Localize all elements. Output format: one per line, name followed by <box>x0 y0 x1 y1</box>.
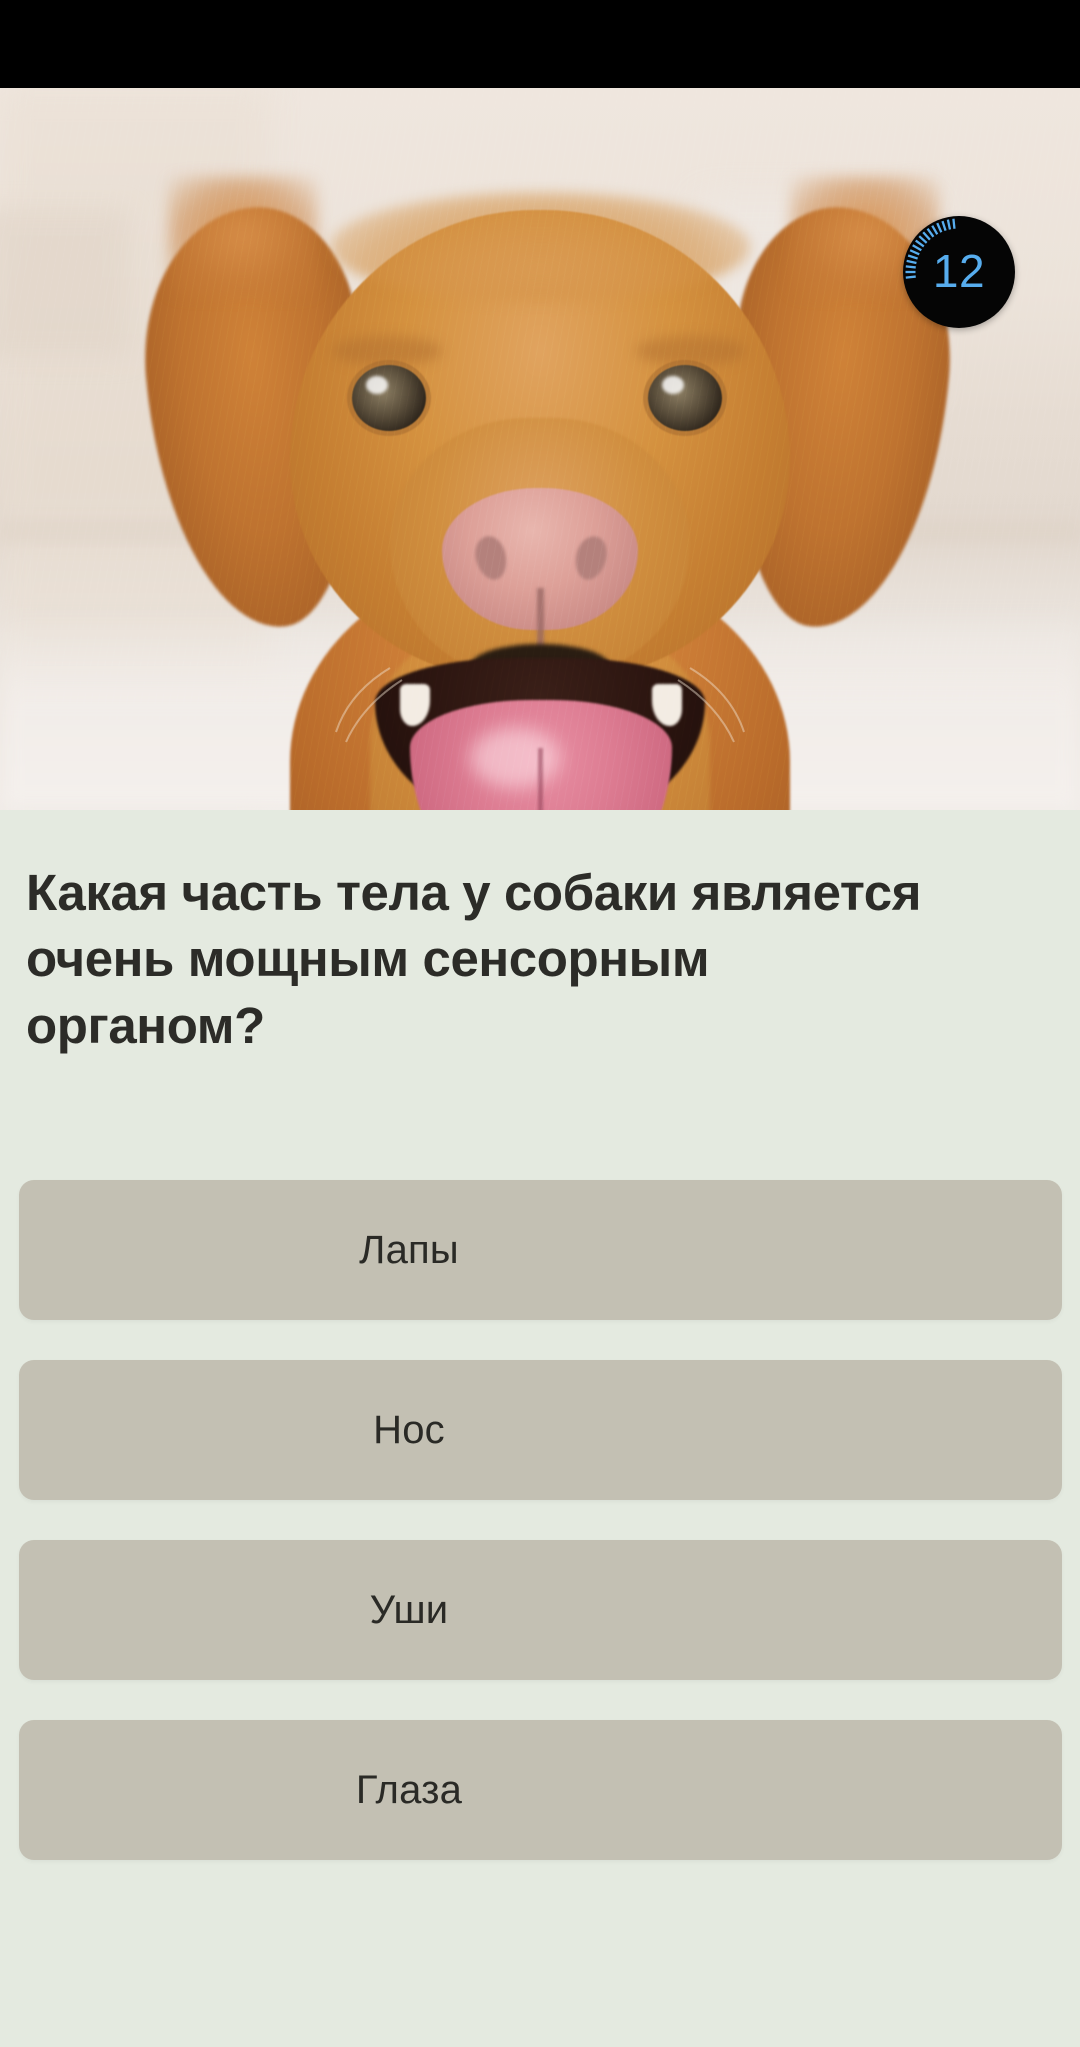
quiz-panel: Какая часть тела у собаки является очень… <box>0 810 1080 2047</box>
dog-tongue-crease <box>538 748 543 810</box>
answer-option-3[interactable]: Уши <box>19 1540 1062 1680</box>
answer-option-1[interactable]: Лапы <box>19 1180 1062 1320</box>
answer-option-3-label: Уши <box>19 1540 799 1680</box>
answer-option-2-label: Нос <box>19 1360 799 1500</box>
answer-option-1-label: Лапы <box>19 1180 799 1320</box>
dog-brow-left <box>332 336 442 366</box>
quiz-screen: 12 Какая часть тела у собаки является оч… <box>0 0 1080 2047</box>
dog-eye-glint-right <box>662 376 684 394</box>
answer-options-list: Лапы Нос Уши Глаза <box>19 1180 1062 1900</box>
countdown-timer: 12 <box>903 216 1015 328</box>
dog-head-fluff <box>330 192 750 302</box>
dog-ear-fluff-left <box>168 176 318 296</box>
dog-whiskers <box>330 628 750 748</box>
status-bar <box>0 0 1080 88</box>
dog-brow-right <box>636 336 746 366</box>
dog-eye-right <box>648 365 722 431</box>
dog-photo-subject <box>0 88 1080 810</box>
answer-option-4-label: Глаза <box>19 1720 799 1860</box>
countdown-timer-value: 12 <box>903 216 1015 328</box>
answer-option-2[interactable]: Нос <box>19 1360 1062 1500</box>
answer-option-4[interactable]: Глаза <box>19 1720 1062 1860</box>
dog-eye-left <box>352 365 426 431</box>
question-image: 12 <box>0 88 1080 810</box>
question-text: Какая часть тела у собаки является очень… <box>26 860 926 1059</box>
dog-eye-glint-left <box>366 376 388 394</box>
